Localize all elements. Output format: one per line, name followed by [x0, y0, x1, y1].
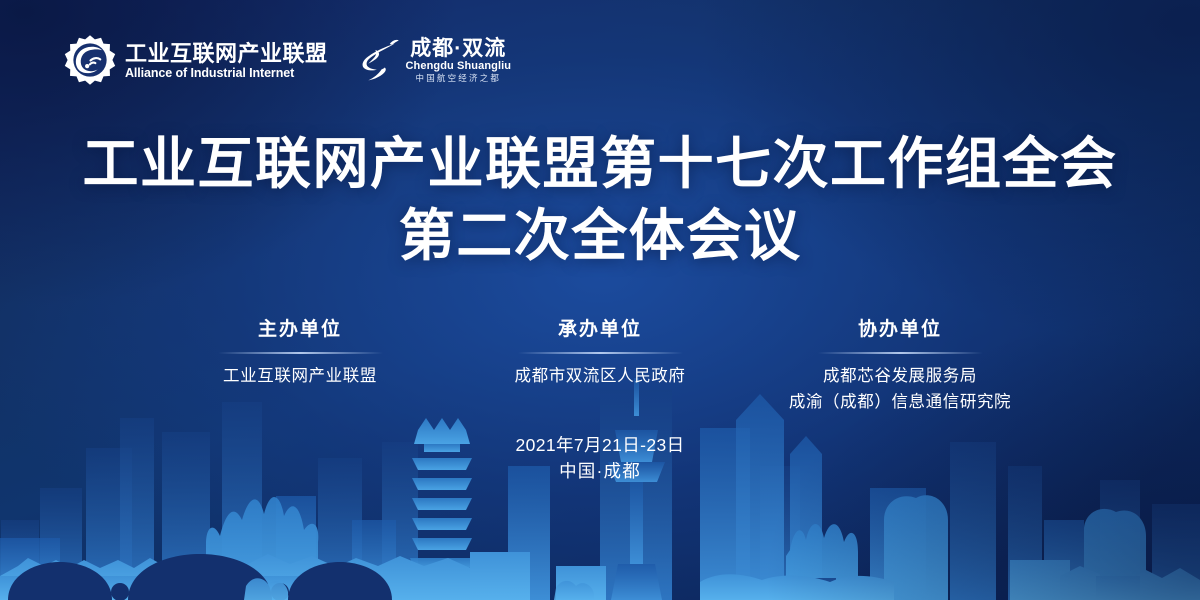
aii-logo: 工业互联网产业联盟 Alliance of Industrial Interne… [64, 34, 328, 86]
organizer-name: 成渝（成都）信息通信研究院 [789, 389, 1011, 415]
title-line-2: 第二次全体会议 [0, 200, 1200, 272]
aii-name-cn: 工业互联网产业联盟 [125, 43, 328, 65]
event-date: 2021年7月21日-23日 [0, 432, 1200, 458]
conference-banner: 工业互联网产业联盟 Alliance of Industrial Interne… [0, 0, 1200, 600]
swoosh-airplane-icon [358, 35, 402, 85]
aii-logo-text: 工业互联网产业联盟 Alliance of Industrial Interne… [125, 41, 328, 80]
chengdu-shuangliu-logo: 成都·双流 Chengdu Shuangliu 中国航空经济之都 [358, 35, 512, 85]
organizer-column-host: 主办单位 工业互联网产业联盟 [150, 318, 450, 389]
logo-bar: 工业互联网产业联盟 Alliance of Industrial Interne… [64, 34, 511, 86]
organizer-role-label: 主办单位 [258, 318, 342, 343]
organizer-name: 工业互联网产业联盟 [223, 363, 377, 389]
event-location: 中国·成都 [0, 458, 1200, 484]
title-line-1: 工业互联网产业联盟第十七次工作组全会 [0, 128, 1200, 200]
event-details: 2021年7月21日-23日 中国·成都 [0, 432, 1200, 484]
organizer-name: 成都芯谷发展服务局 [823, 363, 977, 389]
csl-tagline: 中国航空经济之都 [416, 74, 502, 83]
organizers-section: 主办单位 工业互联网产业联盟 承办单位 成都市双流区人民政府 协办单位 成都芯谷… [0, 318, 1200, 415]
organizer-role-label: 协办单位 [858, 318, 942, 343]
organizer-name: 成都市双流区人民政府 [515, 363, 686, 389]
organizer-divider [818, 352, 983, 354]
organizer-column-co-organizer: 协办单位 成都芯谷发展服务局 成渝（成都）信息通信研究院 [750, 318, 1050, 415]
csl-name-en: Chengdu Shuangliu [406, 61, 512, 72]
event-title: 工业互联网产业联盟第十七次工作组全会 第二次全体会议 [0, 128, 1200, 272]
aii-name-en: Alliance of Industrial Internet [125, 67, 328, 80]
organizer-role-label: 承办单位 [558, 318, 642, 343]
chengdu-shuangliu-logo-text: 成都·双流 Chengdu Shuangliu 中国航空经济之都 [406, 38, 512, 83]
csl-name-cn: 成都·双流 [410, 38, 506, 59]
gear-wifi-icon [64, 34, 116, 86]
organizer-divider [518, 352, 683, 354]
organizer-divider [218, 352, 383, 354]
organizer-column-undertaker: 承办单位 成都市双流区人民政府 [450, 318, 750, 389]
